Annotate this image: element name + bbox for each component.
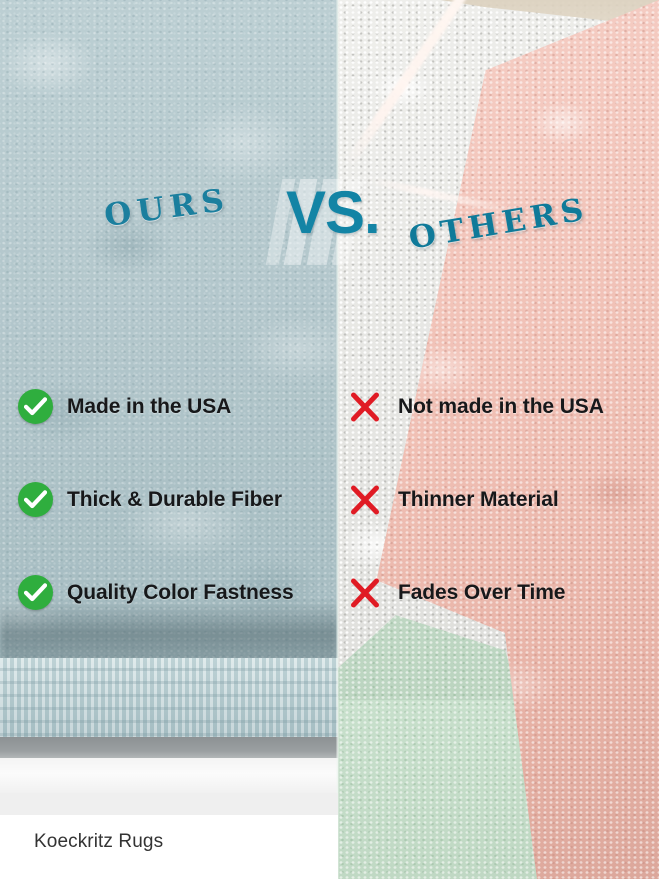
check-circle-icon bbox=[18, 389, 53, 424]
list-item-label: Made in the USA bbox=[67, 395, 231, 419]
list-item-label: Not made in the USA bbox=[398, 395, 604, 419]
list-item: Quality Color Fastness bbox=[18, 546, 328, 639]
list-item-label: Thick & Durable Fiber bbox=[67, 488, 282, 512]
list-item-label: Fades Over Time bbox=[398, 581, 565, 605]
x-mark-icon bbox=[348, 576, 382, 610]
list-item: Not made in the USA bbox=[348, 360, 648, 453]
list-item-label: Thinner Material bbox=[398, 488, 559, 512]
list-item-label: Quality Color Fastness bbox=[67, 581, 294, 605]
x-mark-icon bbox=[348, 390, 382, 424]
footer-top-strip bbox=[0, 793, 338, 815]
floor-surface bbox=[0, 758, 338, 793]
rug-binding-weave bbox=[0, 658, 338, 740]
floor-shadow bbox=[0, 737, 338, 760]
ours-feature-list: Made in the USA Thick & Durable Fiber Qu… bbox=[18, 360, 328, 639]
panel-divider bbox=[336, 0, 339, 879]
list-item: Fades Over Time bbox=[348, 546, 648, 639]
others-feature-list: Not made in the USA Thinner Material Fad… bbox=[348, 360, 648, 639]
list-item: Thinner Material bbox=[348, 453, 648, 546]
check-circle-icon bbox=[18, 575, 53, 610]
x-mark-icon bbox=[348, 483, 382, 517]
comparison-infographic: OURS VS. OTHERS Made in the USA bbox=[0, 0, 659, 879]
list-item: Thick & Durable Fiber bbox=[18, 453, 328, 546]
check-circle-icon bbox=[18, 482, 53, 517]
list-item: Made in the USA bbox=[18, 360, 328, 453]
brand-name: Koeckritz Rugs bbox=[34, 831, 163, 853]
